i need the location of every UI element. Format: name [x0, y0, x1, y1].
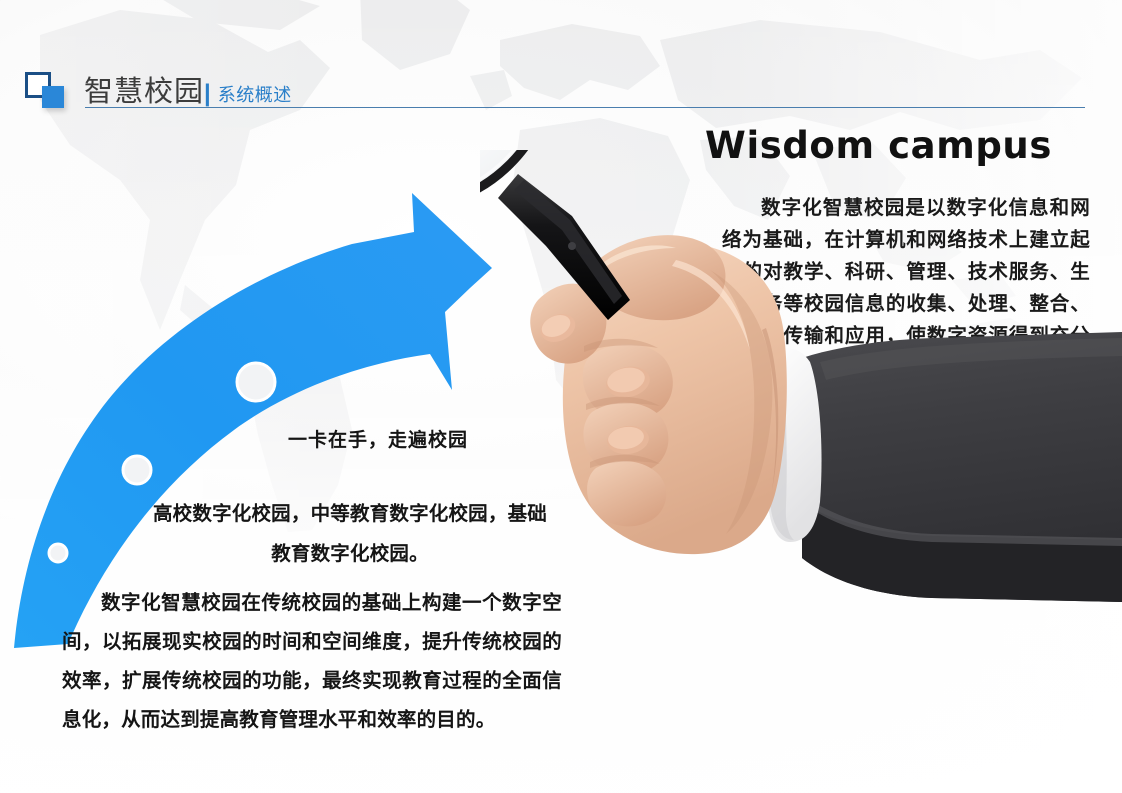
middle-finger-nail — [603, 363, 652, 401]
brand-logo-icon — [25, 72, 71, 108]
caption-slogan: 一卡在手，走遍校园 — [288, 425, 468, 452]
page-title: 智慧校园 | 系统概述 — [84, 68, 292, 110]
caption-levels: 高校数字化校园，中等教育数字化校园，基础教育数字化校园。 — [150, 494, 550, 574]
handle-rivet-icon — [568, 242, 576, 250]
page-title-main: 智慧校园 — [84, 68, 204, 110]
slide-header: 智慧校园 | 系统概述 — [0, 0, 1122, 120]
magnifier-lens — [480, 150, 554, 208]
logo-filled-square-icon — [42, 86, 64, 108]
overview-paragraph: 数字化智慧校园是以数字化信息和网络为基础，在计算机和网络技术上建立起来的对教学、… — [722, 192, 1090, 384]
slide-root: 智慧校园 | 系统概述 Wisdom campus 数字化智慧校园是以数字化信息… — [0, 0, 1122, 793]
page-title-subtitle: 系统概述 — [218, 81, 292, 107]
english-heading: Wisdom campus — [705, 124, 1052, 167]
milestone-dot-1 — [49, 544, 67, 562]
milestone-dot-3 — [237, 363, 275, 401]
ring-finger-nail — [605, 423, 650, 457]
page-title-separator: | — [204, 80, 211, 108]
magnifier-handle — [498, 174, 630, 320]
arrow-shape — [14, 193, 492, 648]
header-divider — [85, 107, 1085, 108]
thumb-nail — [536, 309, 579, 347]
milestone-dot-2 — [123, 456, 151, 484]
magnifier-ring — [480, 150, 554, 208]
caption-body: 数字化智慧校园在传统校园的基础上构建一个数字空间，以拓展现实校园的时间和空间维度… — [62, 583, 562, 739]
